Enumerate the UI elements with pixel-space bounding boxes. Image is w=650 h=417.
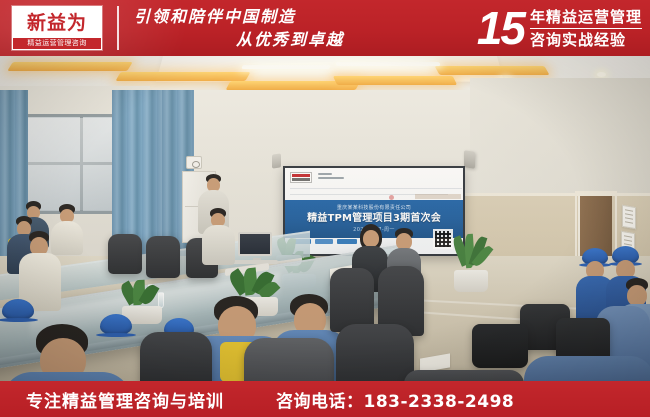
desktop-monitor xyxy=(238,232,272,256)
safety-helmet xyxy=(2,299,34,320)
company-logo: 新益为 精益运营管理咨询 xyxy=(12,6,102,50)
office-chair xyxy=(330,268,374,332)
logo-subtitle: 精益运营管理咨询 xyxy=(13,38,101,49)
cove-light xyxy=(7,62,133,71)
wall-poster xyxy=(622,205,636,229)
office-chair xyxy=(404,370,524,381)
cove-light xyxy=(333,76,457,85)
office-chair xyxy=(146,236,180,278)
footer-tagline: 专注精益管理咨询与培训 xyxy=(26,387,224,412)
experience-text: 年精益运营管理 咨询实战经验 xyxy=(530,6,642,51)
potted-plant xyxy=(454,236,488,292)
slide-rule xyxy=(290,188,462,189)
cove-light xyxy=(434,66,549,75)
wall-speaker xyxy=(464,150,475,169)
meeting-room-photo: 重庆某某科技股份有限责任公司 精益TPM管理项目3期首次会 20230417-周… xyxy=(0,56,650,381)
experience-badge: 15 年精益运营管理 咨询实战经验 xyxy=(477,0,642,56)
slogan-line-1: 引领和陪伴中国制造 xyxy=(128,5,358,28)
footer-phone: 咨询电话：183-2338-2498 xyxy=(276,387,514,412)
plant-pot xyxy=(454,270,488,292)
promotional-banner-image: 新益为 精益运营管理咨询 引领和陪伴中国制造 从优秀到卓越 15 年精益运营管理… xyxy=(0,0,650,417)
ceiling-tube-light xyxy=(335,62,440,66)
wall-speaker xyxy=(272,153,281,168)
slide-title: 精益TPM管理项目3期首次会 xyxy=(307,212,441,226)
office-chair xyxy=(140,332,212,381)
header-divider xyxy=(117,6,119,50)
header-banner: 新益为 精益运营管理咨询 引领和陪伴中国制造 从优秀到卓越 15 年精益运营管理… xyxy=(0,0,650,56)
ceiling-tube-light xyxy=(241,65,330,69)
ceiling-downlight xyxy=(597,72,606,77)
experience-line-1: 年精益运营管理 xyxy=(530,6,642,29)
slide-logo-icon xyxy=(290,172,312,183)
office-chair xyxy=(472,324,528,368)
monitor-base xyxy=(232,260,278,264)
office-chair xyxy=(108,234,142,274)
office-chair xyxy=(336,324,414,381)
experience-years-number: 15 xyxy=(477,6,530,50)
experience-line-2: 咨询实战经验 xyxy=(530,29,642,51)
slide-glare xyxy=(415,194,461,199)
slogan-line-2: 从优秀到卓越 xyxy=(128,28,358,51)
logo-wordmark: 新益为 xyxy=(13,7,101,38)
office-chair xyxy=(244,338,334,381)
slide-meta-lines xyxy=(318,173,352,182)
cove-light xyxy=(115,72,250,81)
wall-clock-icon xyxy=(186,156,202,169)
footer-banner: 专注精益管理咨询与培训 咨询电话：183-2338-2498 xyxy=(0,381,650,417)
qr-code-icon xyxy=(433,229,453,249)
slide-company-name: 重庆某某科技股份有限责任公司 xyxy=(337,205,411,212)
safety-helmet xyxy=(100,314,132,335)
header-slogan: 引领和陪伴中国制造 从优秀到卓越 xyxy=(128,5,358,53)
